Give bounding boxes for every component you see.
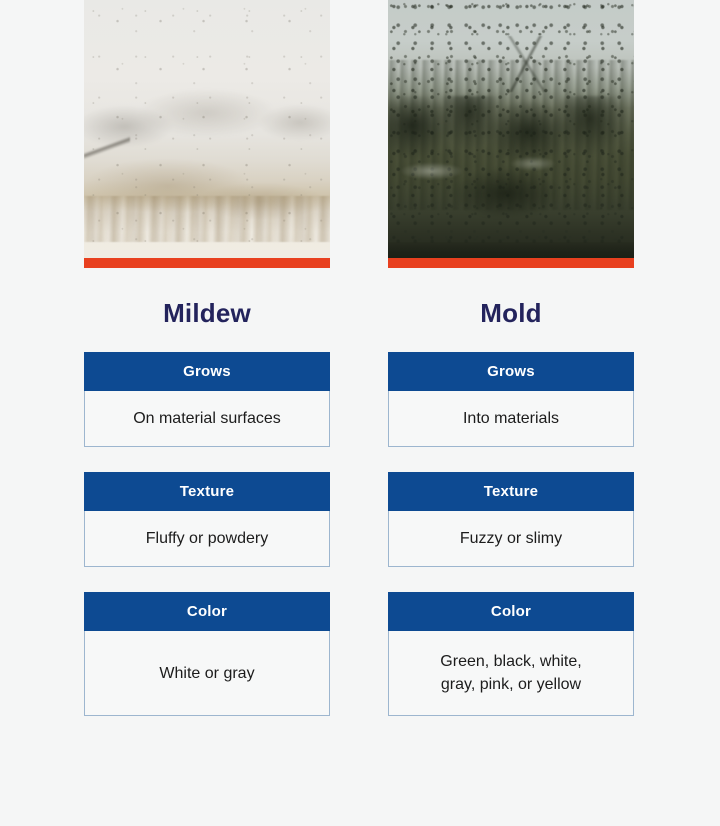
mold-color-value: Green, black, white,gray, pink, or yello… (440, 650, 581, 696)
mold-texture-label: Texture (388, 472, 634, 511)
comparison-infographic: Mildew Grows On material surfaces Textur… (0, 0, 720, 826)
mold-texture-value-box: Fuzzy or slimy (388, 511, 634, 567)
mold-grows-value-box: Into materials (388, 391, 634, 447)
mildew-grows-value-box: On material surfaces (84, 391, 330, 447)
mildew-accent-bar (84, 258, 330, 268)
mildew-texture-label: Texture (84, 472, 330, 511)
mildew-photo (84, 0, 330, 258)
mildew-crack (84, 118, 130, 180)
mildew-color-value-box: White or gray (84, 631, 330, 716)
mold-color-label: Color (388, 592, 634, 631)
mold-grows-value: Into materials (463, 407, 559, 430)
mold-card-grows: Grows Into materials (388, 352, 634, 447)
mildew-color-value: White or gray (159, 662, 254, 685)
mildew-grows-label: Grows (84, 352, 330, 391)
mold-grows-label: Grows (388, 352, 634, 391)
mildew-card-texture: Texture Fluffy or powdery (84, 472, 330, 567)
mold-texture-value: Fuzzy or slimy (460, 527, 562, 550)
mold-accent-bar (388, 258, 634, 268)
mold-photo-wrap (388, 0, 634, 270)
mildew-grows-value: On material surfaces (133, 407, 281, 430)
comparison-columns: Mildew Grows On material surfaces Textur… (0, 0, 720, 741)
mold-card-color: Color Green, black, white,gray, pink, or… (388, 592, 634, 716)
mildew-texture-value-box: Fluffy or powdery (84, 511, 330, 567)
mildew-card-color: Color White or gray (84, 592, 330, 716)
mold-base-shadow (388, 242, 634, 258)
column-mildew: Mildew Grows On material surfaces Textur… (84, 0, 330, 741)
mildew-title: Mildew (84, 300, 330, 326)
mildew-texture-value: Fluffy or powdery (146, 527, 268, 550)
mold-card-texture: Texture Fuzzy or slimy (388, 472, 634, 567)
mold-vertical-streaks (388, 60, 634, 210)
mold-color-value-box: Green, black, white,gray, pink, or yello… (388, 631, 634, 716)
mold-photo (388, 0, 634, 258)
mildew-stain-streaks (84, 196, 330, 242)
mold-title: Mold (388, 300, 634, 326)
mold-light-patches (398, 150, 610, 184)
column-mold: Mold Grows Into materials Texture Fuzzy … (388, 0, 634, 741)
mildew-card-grows: Grows On material surfaces (84, 352, 330, 447)
mildew-color-label: Color (84, 592, 330, 631)
mildew-photo-wrap (84, 0, 330, 270)
